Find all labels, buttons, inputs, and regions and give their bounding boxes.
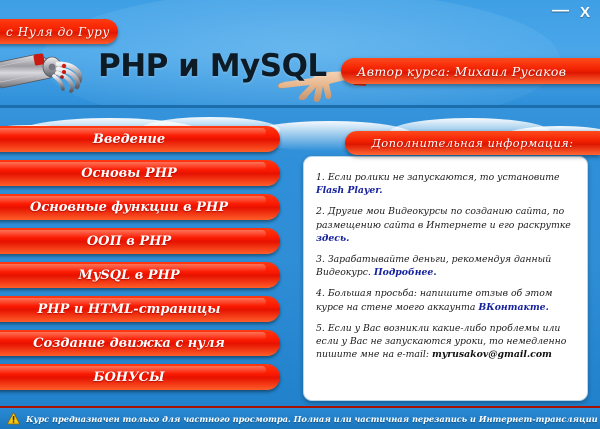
menu-item-label: PHP и HTML-страницы [37,302,226,317]
menu-item-mysql-php[interactable]: MySQL в PHP [0,262,280,288]
additional-info-title: Дополнительная информация: [372,136,574,150]
author-ribbon: Автор курса: Михаил Русаков [341,58,600,84]
additional-info-panel: 1. Если ролики не запускаются, то устано… [303,156,588,401]
course-menu: Введение Основы PHP Основные функции в P… [0,126,300,398]
info-item-number: 5. [316,323,325,334]
info-item-number: 1. [316,172,325,183]
vkontakte-link[interactable]: ВКонтакте. [478,302,548,313]
menu-item-label: Основные функции в PHP [30,200,234,215]
other-courses-link[interactable]: здесь. [316,233,349,244]
footer-warning-text: Курс предназначен только для частного пр… [26,414,600,424]
menu-item-label: БОНУСЫ [93,370,170,385]
menu-item-php-html[interactable]: PHP и HTML-страницы [0,296,280,322]
info-item-text: Другие мои Видеокурсы по созданию сайта,… [316,206,571,230]
menu-item-label: Основы PHP [81,166,183,181]
menu-item-label: MySQL в PHP [78,268,185,283]
close-button[interactable]: X [580,6,590,20]
info-item-number: 3. [316,254,325,265]
menu-item-label: Введение [93,132,171,147]
support-email[interactable]: myrusakov@gmail.com [432,349,552,360]
window-controls: — X [552,6,590,20]
page-title: PHP и MySQL [98,48,327,84]
info-item-text: Если ролики не запускаются, то установит… [328,172,560,183]
author-ribbon-label: Автор курса: Михаил Русаков [341,64,566,79]
minimize-button[interactable]: — [552,3,569,17]
info-item-number: 2. [316,206,325,217]
flash-player-link[interactable]: Flash Player. [316,185,383,196]
menu-item-php-functions[interactable]: Основные функции в PHP [0,194,280,220]
zero-to-guru-badge: с Нуля до Гуру [0,19,118,44]
menu-item-php-basics[interactable]: Основы PHP [0,160,280,186]
warning-triangle-icon [7,412,20,425]
additional-info-header: Дополнительная информация: [345,131,600,155]
info-item-5: 5. Если у Вас возникли какие-либо пробле… [316,322,575,362]
footer-warning-bar: Курс предназначен только для частного пр… [0,406,600,429]
info-item-3: 3. Зарабатывайте деньги, рекомендуя данн… [316,253,575,279]
menu-item-intro[interactable]: Введение [0,126,280,152]
info-item-2: 2. Другие мои Видеокурсы по созданию сай… [316,205,575,245]
robot-arm-icon [0,44,102,102]
menu-item-engine-from-scratch[interactable]: Создание движка с нуля [0,330,280,356]
info-item-1: 1. Если ролики не запускаются, то устано… [316,171,575,197]
course-menu-window: — X с Нуля до Гуру [0,0,600,429]
menu-item-label: Создание движка с нуля [33,336,231,351]
info-item-4: 4. Большая просьба: напишите отзыв об эт… [316,287,575,313]
menu-item-php-oop[interactable]: ООП в PHP [0,228,280,254]
menu-item-bonuses[interactable]: БОНУСЫ [0,364,280,390]
info-item-number: 4. [316,288,325,299]
zero-to-guru-badge-label: с Нуля до Гуру [0,25,110,39]
menu-item-label: ООП в PHP [87,234,177,249]
header-banner: — X с Нуля до Гуру [0,0,600,108]
affiliate-details-link[interactable]: Подробнее. [374,267,437,278]
